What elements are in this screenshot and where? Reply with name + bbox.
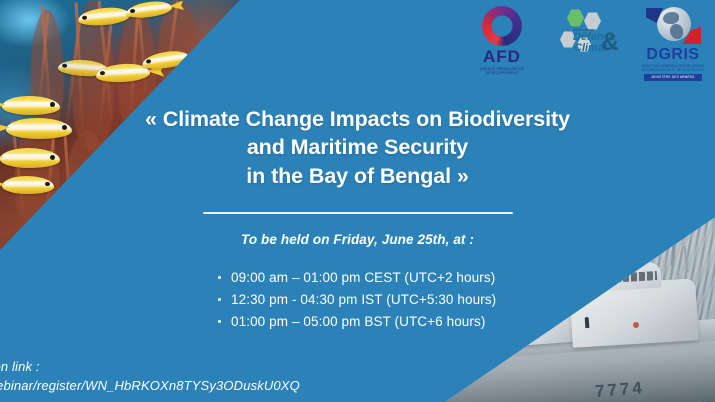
list-item: 09:00 am – 01:00 pm CEST (UTC+2 hours) xyxy=(218,267,715,289)
dgris-emblem xyxy=(644,6,702,46)
globe-icon xyxy=(657,7,691,41)
partner-logos: AFD Agence Française de Développement ob… xyxy=(469,6,707,81)
dgris-ministry-bar: Ministère des Armées xyxy=(644,74,702,81)
webinar-announcement-slide: 7774 AFD Agence Française de Développeme… xyxy=(0,0,715,402)
list-item: 01:00 pm – 05:00 pm BST (UTC+6 hours) xyxy=(218,311,715,333)
title-line-1: « Climate Change Impacts on Biodiversity xyxy=(108,105,608,133)
timezone-list: 09:00 am – 01:00 pm CEST (UTC+2 hours) 1… xyxy=(218,267,715,333)
afd-ring-icon xyxy=(482,6,522,46)
dgris-tagline: Direction Générale des Relations Interna… xyxy=(639,64,707,72)
dgris-logo: DGRIS Direction Générale des Relations I… xyxy=(639,6,707,81)
registration-block: gistration link : m.us/webinar/register/… xyxy=(0,358,300,396)
registration-label: gistration link : xyxy=(0,358,300,377)
list-item: 12:30 pm - 04:30 pm IST (UTC+5:30 hours) xyxy=(218,289,715,311)
afd-wordmark: AFD xyxy=(469,48,535,65)
event-date-subtitle: To be held on Friday, June 25th, at : xyxy=(0,232,715,247)
afd-tagline: Agence Française de Développement xyxy=(469,67,535,76)
title-line-2: and Maritime Security xyxy=(108,133,608,161)
hull-number: 7774 xyxy=(594,378,645,402)
divider xyxy=(203,212,513,214)
page-title: « Climate Change Impacts on Biodiversity… xyxy=(108,105,608,190)
title-line-3: in the Bay of Bengal » xyxy=(108,162,608,190)
afd-logo: AFD Agence Française de Développement xyxy=(469,6,535,76)
dgris-wordmark: DGRIS xyxy=(639,47,707,63)
slide-content: « Climate Change Impacts on Biodiversity… xyxy=(0,105,715,333)
ampersand-icon: & xyxy=(601,30,619,55)
registration-link[interactable]: m.us/webinar/register/WN_HbRKOXn8TYSy3OD… xyxy=(0,377,300,396)
defense-climat-logo: observatoire Défense Climat & xyxy=(553,6,621,62)
hexagon-icon xyxy=(567,9,584,27)
